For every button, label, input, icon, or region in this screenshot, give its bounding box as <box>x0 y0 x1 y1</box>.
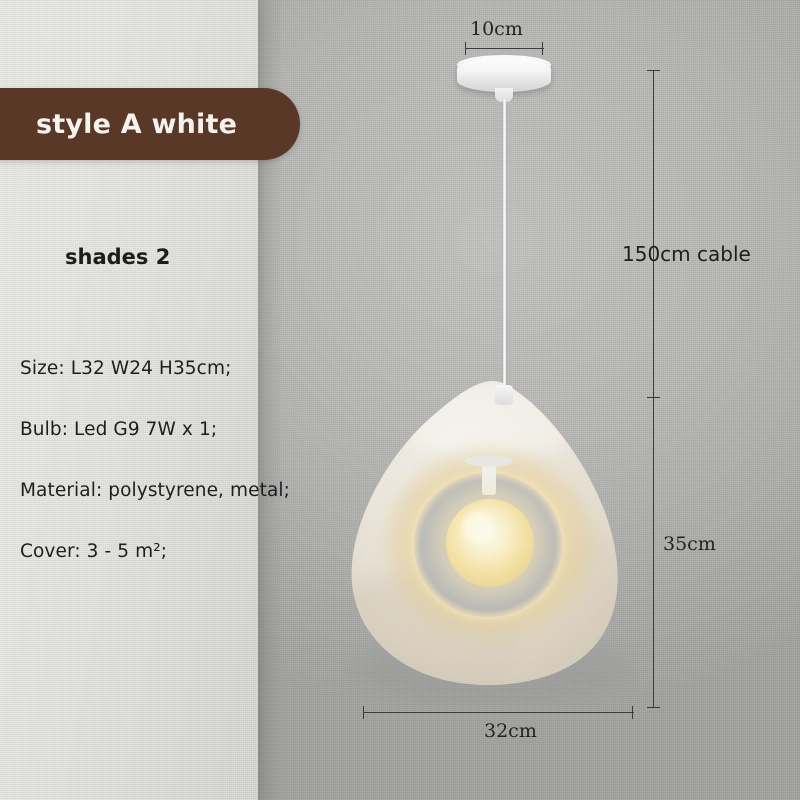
shades-subtitle: shades 2 <box>65 245 170 269</box>
ceiling-canopy <box>457 58 551 92</box>
teardrop-pendant-shade <box>340 375 640 705</box>
dimension-label-shade-height: 35cm <box>663 533 716 555</box>
dimension-label-cable-length: 150cm cable <box>622 242 751 266</box>
spec-cover: Cover: 3 - 5 m²; <box>20 541 340 562</box>
dimension-label-canopy-width: 10cm <box>470 18 523 40</box>
dimension-line-canopy-width <box>465 48 544 49</box>
style-badge-label: style A white <box>0 109 237 140</box>
dimension-tick-canopy-right <box>542 42 543 55</box>
spec-list: Size: L32 W24 H35cm; Bulb: Led G9 7W x 1… <box>20 358 340 602</box>
dimension-tick-top <box>647 70 660 71</box>
dimension-line-shade-width <box>363 712 634 713</box>
pendant-cable <box>503 99 506 399</box>
style-badge: style A white <box>0 88 300 160</box>
bulb-socket <box>495 385 513 405</box>
spec-size: Size: L32 W24 H35cm; <box>20 358 340 379</box>
dimension-tick-canopy-left <box>465 42 466 55</box>
dimension-tick-width-right <box>632 706 633 719</box>
dimension-tick-bottom <box>647 707 660 708</box>
spec-material: Material: polystyrene, metal; <box>20 480 340 501</box>
dimension-tick-middle <box>647 397 660 398</box>
dimension-tick-width-left <box>363 706 364 719</box>
spec-bulb: Bulb: Led G9 7W x 1; <box>20 419 340 440</box>
dimension-line-vertical <box>653 70 654 708</box>
product-spec-image: style A white shades 2 Size: L32 W24 H35… <box>0 0 800 800</box>
dimension-label-shade-width: 32cm <box>484 720 537 742</box>
